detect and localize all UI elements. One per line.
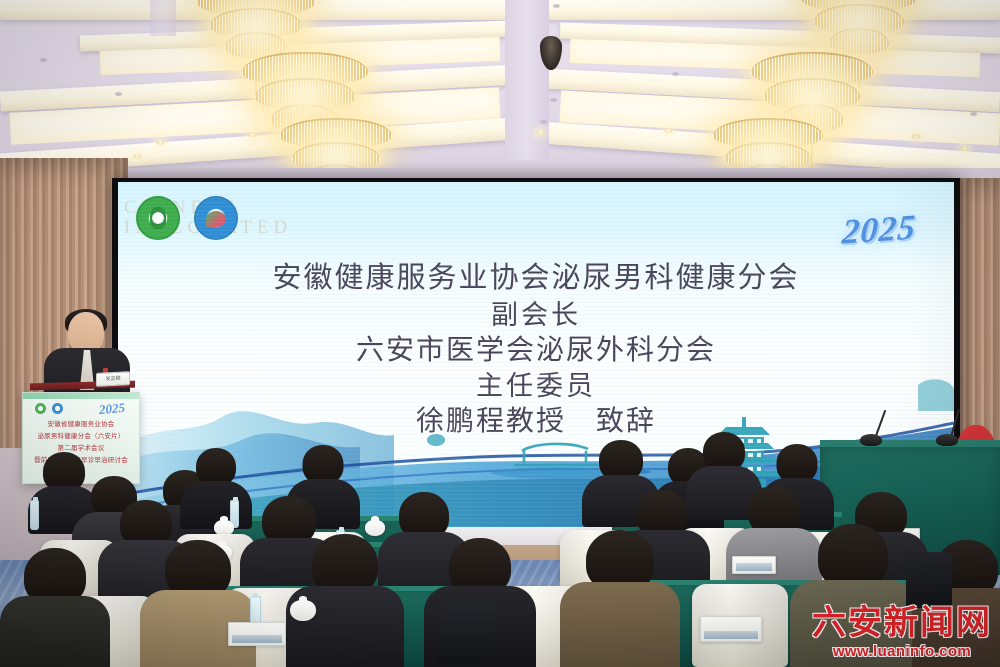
conference-photo: CHINESE INTEGRATED 2025 安徽健康服务业协会泌尿男科健康分… <box>0 0 1000 667</box>
green-medical-emblem-icon <box>136 196 180 240</box>
name-plate <box>700 616 762 642</box>
podium-line-2: 泌尿男科健康分会（六安片） <box>23 431 139 443</box>
name-plate <box>228 622 286 646</box>
tea-cup <box>290 600 316 621</box>
ceiling-fixture <box>540 36 562 70</box>
ceiling <box>0 0 1000 175</box>
audience-person <box>140 540 256 667</box>
watermark: 六安新闻网 www.luaninfo.com <box>812 607 992 659</box>
speaker-person <box>42 312 134 404</box>
blue-association-emblem-icon <box>194 196 238 240</box>
podium-logos <box>35 403 63 414</box>
microphone-base <box>936 434 958 446</box>
chandelier <box>712 118 824 175</box>
slide-logos <box>136 196 238 240</box>
chandelier <box>278 118 394 175</box>
podium-year-mark: 2025 <box>98 400 125 418</box>
podium-line-1: 安徽省健康服务业协会 <box>23 419 139 431</box>
audience-person <box>0 548 110 667</box>
watermark-site-name: 六安新闻网 <box>812 607 992 641</box>
slide-line-3: 六安市医学会泌尿外科分会 <box>118 333 954 369</box>
slide-year-mark: 2025 <box>841 207 918 252</box>
watermark-url: www.luaninfo.com <box>812 644 992 659</box>
water-bottle <box>30 500 39 530</box>
bag <box>906 552 952 608</box>
podium-script-card: 发言稿 <box>96 371 130 387</box>
bag <box>436 602 497 664</box>
slide-line-1: 安徽健康服务业协会泌尿男科健康分会 <box>118 260 954 298</box>
podium-green-emblem-icon <box>35 403 46 414</box>
name-plate <box>732 556 776 574</box>
microphone-base <box>860 434 882 446</box>
slide-line-2: 副会长 <box>118 298 954 333</box>
audience-person <box>560 530 680 667</box>
podium-blue-emblem-icon <box>52 403 63 414</box>
